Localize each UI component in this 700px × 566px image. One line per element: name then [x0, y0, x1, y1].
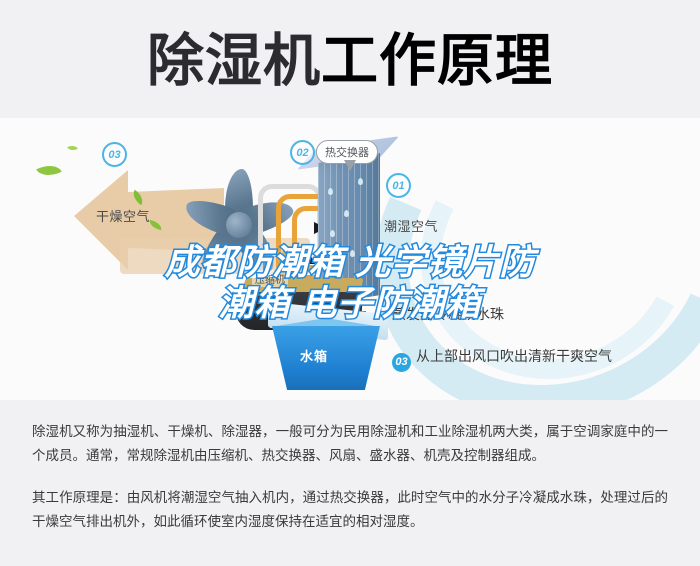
water-tank-label: 水箱 — [300, 346, 328, 365]
water-drop-icon — [328, 188, 333, 195]
step-label-dry-air: 干燥空气 — [96, 206, 150, 225]
note-outlet: 03从上部出风口吹出清新干爽空气 — [392, 346, 612, 372]
step-badge-01: 01 — [386, 173, 411, 198]
paragraph-principle: 其工作原理是：由风机将潮湿空气抽入机内，通过热交换器，此时空气中的水分子冷凝成水… — [32, 486, 668, 534]
step-badge-02: 02 — [290, 140, 315, 165]
step-badge-03: 03 — [102, 142, 127, 167]
step-label-humid-air: 潮湿空气 — [384, 216, 438, 235]
page-title: 除湿机工作原理 — [0, 0, 700, 122]
dehumidifier-diagram: 水箱 压缩机 03 干燥空气 02 热交换器 01 潮湿空气 蒸发器冷凝成水珠 … — [0, 118, 700, 400]
title-part-two: 工作原理 — [321, 29, 553, 93]
note-badge-03: 03 — [392, 353, 411, 372]
leaf-icon — [67, 143, 78, 152]
water-drop-icon — [330, 230, 335, 237]
water-drop-icon — [350, 250, 355, 257]
infographic-page: 除湿机工作原理 — [0, 0, 700, 566]
water-drop-icon — [334, 268, 339, 275]
note-condensation: 蒸发器冷凝成水珠 — [392, 304, 504, 324]
leaf-icon — [36, 160, 61, 181]
body-copy: 除湿机又称为抽湿机、干燥机、除湿器，一般可分为民用除湿机和工业除湿机两大类，属于… — [0, 402, 700, 566]
water-drop-icon — [358, 178, 363, 185]
title-text: 除湿机工作原理 — [147, 33, 553, 90]
compressor-label: 压缩机 — [252, 270, 288, 287]
title-part-one: 除湿机 — [147, 29, 321, 93]
bubble-pointer-icon — [344, 160, 356, 171]
water-drop-icon — [344, 210, 349, 217]
paragraph-definition: 除湿机又称为抽湿机、干燥机、除湿器，一般可分为民用除湿机和工业除湿机两大类，属于… — [32, 420, 668, 468]
note-outlet-text: 从上部出风口吹出清新干爽空气 — [416, 348, 612, 364]
